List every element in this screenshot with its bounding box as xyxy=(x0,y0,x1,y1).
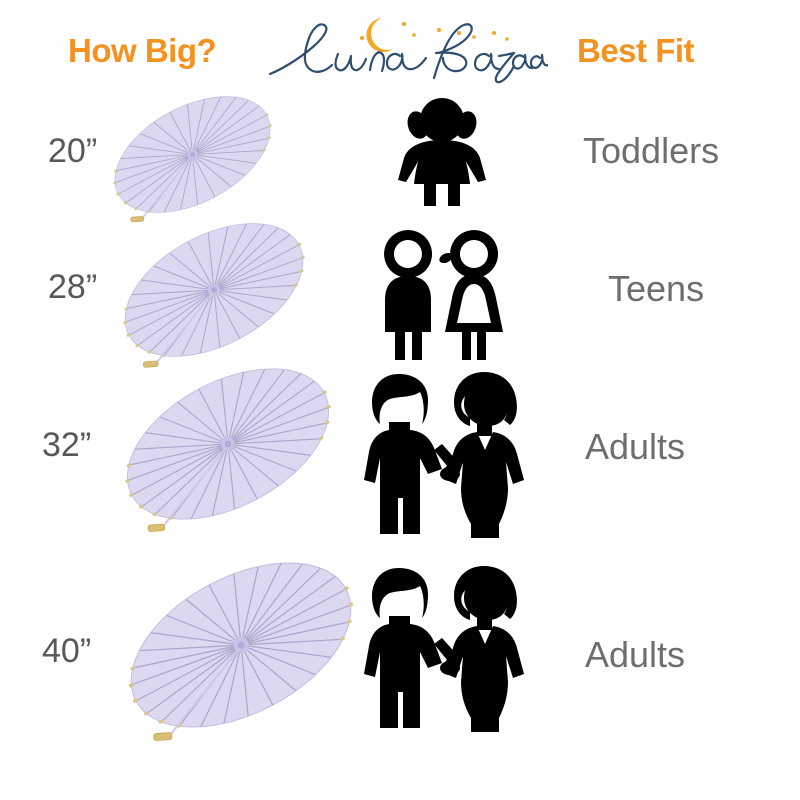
size-row: 40” xyxy=(0,548,800,748)
fit-label: Toddlers xyxy=(583,130,719,172)
adult-woman-figure xyxy=(442,372,524,538)
teen-boy-figure xyxy=(384,230,432,360)
fit-label: Adults xyxy=(585,426,685,468)
column-header-best-fit: Best Fit xyxy=(577,32,694,70)
luna-bazaar-logo xyxy=(258,8,548,86)
parasol-icon xyxy=(108,362,348,526)
parasol-icon xyxy=(108,218,320,362)
adult-man-figure xyxy=(364,374,460,534)
fit-label: Teens xyxy=(608,268,704,310)
parasol-icon xyxy=(110,556,372,734)
size-label: 28” xyxy=(48,268,97,307)
adult-couple-icon xyxy=(358,562,534,732)
parasol-icon xyxy=(100,92,285,217)
toddler-girl-icon xyxy=(392,98,492,206)
size-label: 20” xyxy=(48,132,97,171)
parasol-size-chart: How Big? xyxy=(0,0,800,800)
teen-girl-figure xyxy=(438,230,503,360)
teen-couple-icon xyxy=(376,224,510,360)
adult-woman-figure xyxy=(442,566,524,732)
crescent-moon-icon xyxy=(366,18,393,52)
size-label: 32” xyxy=(42,426,91,465)
size-row: 28” xyxy=(0,218,800,366)
size-label: 40” xyxy=(42,632,91,671)
chart-header: How Big? xyxy=(0,0,800,92)
column-header-how-big: How Big? xyxy=(68,32,216,70)
size-row: 20” xyxy=(0,90,800,220)
adult-couple-icon xyxy=(358,368,534,538)
fit-label: Adults xyxy=(585,634,685,676)
adult-man-figure xyxy=(364,568,460,728)
size-row: 32” xyxy=(0,358,800,538)
